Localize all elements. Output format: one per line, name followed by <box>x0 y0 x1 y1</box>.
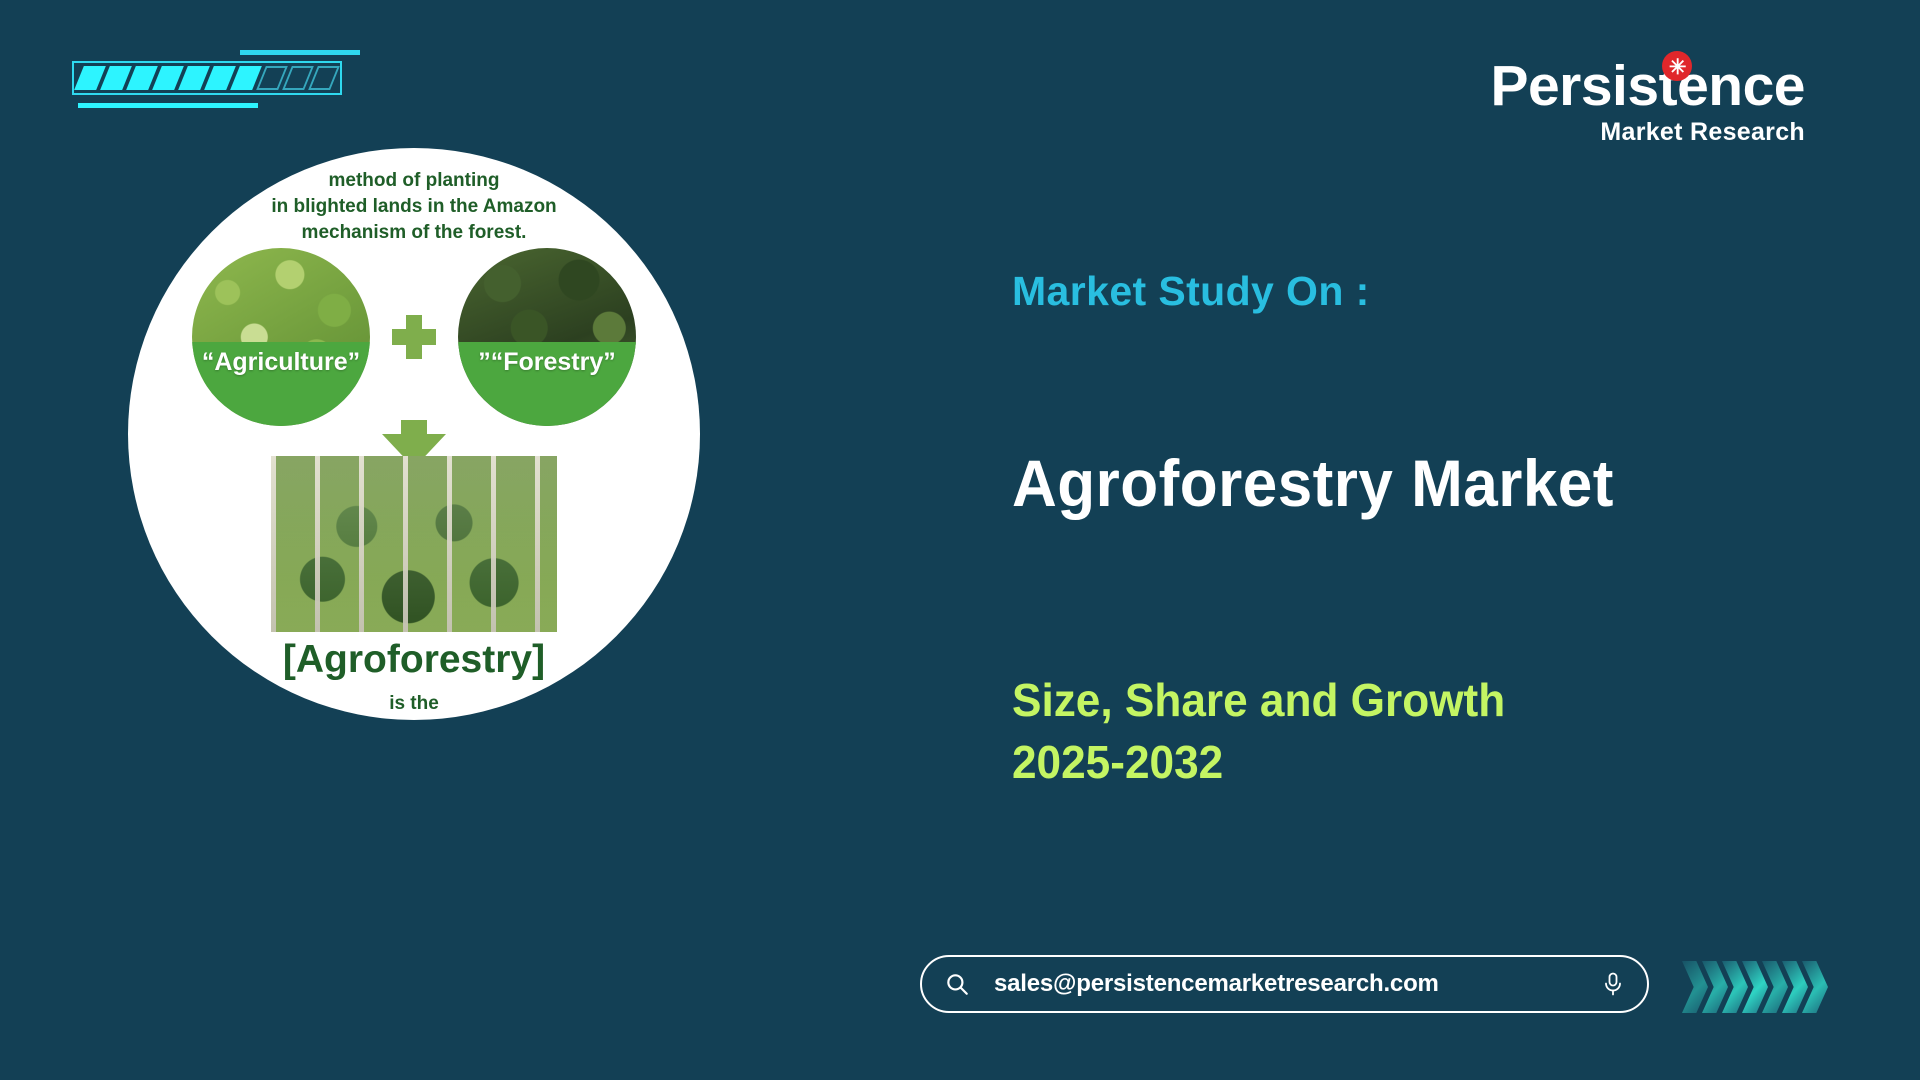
eyebrow-text: Market Study On : <box>1012 268 1370 315</box>
agriculture-label-band: “Agriculture” <box>192 342 370 426</box>
logo-star-glyph: ✳ <box>1669 57 1686 78</box>
subtitle-block: Size, Share and Growth 2025-2032 <box>1012 670 1505 793</box>
microphone-icon[interactable] <box>1601 971 1625 997</box>
chevron-right-icon <box>1682 961 1708 1013</box>
agriculture-label: “Agriculture” <box>202 348 360 377</box>
subtitle-line-2: 2025-2032 <box>1012 732 1505 794</box>
search-input[interactable]: sales@persistencemarketresearch.com <box>994 970 1601 998</box>
infographic-content: method of planting in blighted lands in … <box>128 148 700 720</box>
logo-tagline: Market Research <box>1490 120 1805 145</box>
infographic-caption: method of planting in blighted lands in … <box>128 168 700 247</box>
agriculture-bubble: “Agriculture” <box>192 248 370 426</box>
brand-logo: Persistence ✳ Market Research <box>1490 58 1805 145</box>
infographic-footer-text: is the <box>128 693 700 715</box>
agroforestry-photo <box>271 456 557 632</box>
subtitle-line-1: Size, Share and Growth <box>1012 670 1505 732</box>
infographic-caption-line-2: in blighted lands in the Amazon <box>172 194 656 220</box>
hud-top-tick <box>240 50 360 55</box>
page-title: Agroforestry Market <box>1012 445 1614 521</box>
infographic-caption-line-3: mechanism of the forest. <box>172 220 656 246</box>
forestry-label-band: ”“Forestry” <box>458 342 636 426</box>
forestry-label: ”“Forestry” <box>478 348 616 377</box>
chevron-arrows-decoration <box>1688 956 1878 1018</box>
search-icon[interactable] <box>944 971 970 997</box>
search-bar[interactable]: sales@persistencemarketresearch.com <box>920 955 1649 1013</box>
plus-icon <box>392 315 436 359</box>
hud-bottom-tick <box>78 103 258 108</box>
infographic-bubble-pair: “Agriculture” ”“Forestry” <box>128 248 700 426</box>
hud-progress-graphic <box>60 48 360 108</box>
agroforestry-result-label: [Agroforestry] <box>128 638 700 682</box>
hud-frame <box>72 61 342 95</box>
infographic-caption-line-1: method of planting <box>172 168 656 194</box>
hud-segment-empty <box>308 66 340 90</box>
logo-brand-text: Persistence ✳ <box>1490 58 1805 115</box>
infographic-circle: method of planting in blighted lands in … <box>128 148 700 720</box>
logo-brand-label: Persistence <box>1490 54 1805 118</box>
forestry-bubble: ”“Forestry” <box>458 248 636 426</box>
